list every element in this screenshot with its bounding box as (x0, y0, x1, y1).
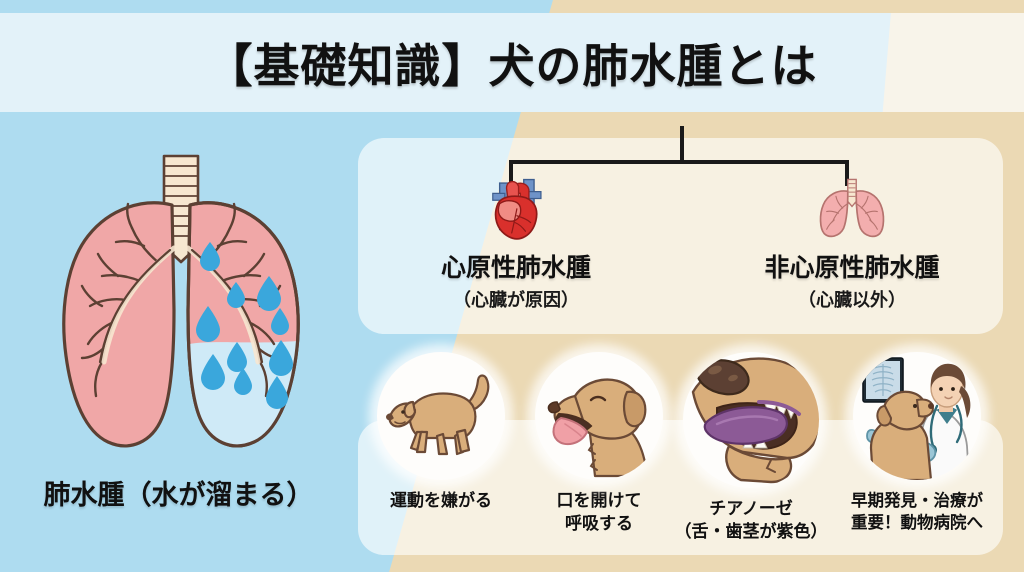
symptom-label-line1: 口を開けて (520, 490, 678, 513)
type-title: 心原性肺水腫 (396, 248, 636, 284)
symptom-card-exercise-intolerance: 運動を嫌がる (362, 352, 520, 513)
symptom-label: 早期発見・治療が 重要！動物病院へ (838, 490, 996, 535)
lungs-caption: 肺水腫（水が溜まる） (6, 473, 351, 512)
type-noncardiogenic: 非心原性肺水腫 （心臓以外） (732, 170, 972, 312)
lungs-with-fluid-illustration (40, 150, 322, 470)
vet-examining-dog-icon (853, 352, 981, 480)
infographic-canvas: 【基礎知識】犬の肺水腫とは (0, 0, 1024, 572)
panting-dog-icon (535, 352, 663, 480)
type-cardiogenic: 心原性肺水腫 （心臓が原因） (396, 170, 636, 312)
type-subtitle: （心臓以外） (732, 286, 972, 312)
heart-icon (396, 170, 636, 242)
walking-dog-icon (377, 352, 505, 480)
symptom-card-see-a-vet: 早期発見・治療が 重要！動物病院へ (838, 352, 996, 535)
type-title: 非心原性肺水腫 (732, 248, 972, 284)
symptom-label: 運動を嫌がる (362, 490, 520, 513)
symptom-card-open-mouth-breathing: 口を開けて 呼吸する (520, 352, 678, 536)
symptom-label-line1: 早期発見・治療が (838, 490, 996, 512)
symptom-label: チアノーゼ （舌・歯茎が紫色） (672, 498, 830, 544)
symptom-label: 口を開けて 呼吸する (520, 490, 678, 536)
lungs-icon (732, 170, 972, 242)
symptom-card-cyanosis: チアノーゼ （舌・歯茎が紫色） (672, 352, 830, 544)
page-title: 【基礎知識】犬の肺水腫とは (0, 22, 1024, 104)
symptom-label-line2: 呼吸する (520, 513, 678, 536)
symptom-label-line2: 重要！動物病院へ (838, 512, 996, 534)
symptom-label-line1: チアノーゼ (672, 498, 830, 521)
symptom-label-line2: （舌・歯茎が紫色） (672, 521, 830, 544)
type-subtitle: （心臓が原因） (396, 286, 636, 312)
cyanotic-tongue-icon (683, 352, 819, 488)
symptom-label-line1: 運動を嫌がる (362, 490, 520, 513)
